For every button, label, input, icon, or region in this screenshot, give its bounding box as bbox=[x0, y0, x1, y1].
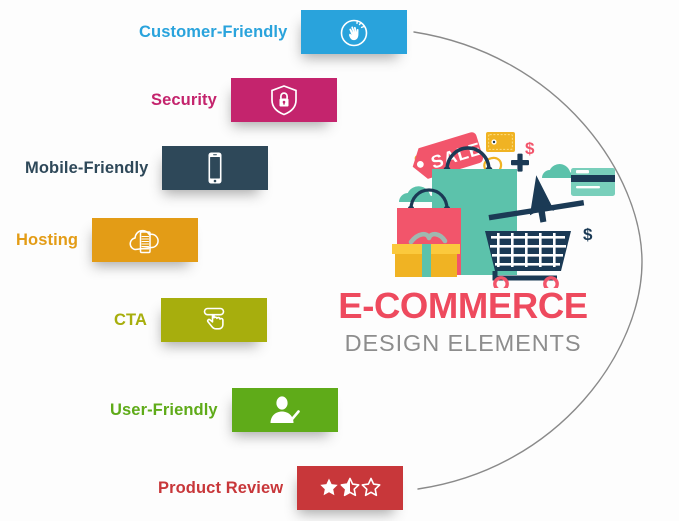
label-security: Security bbox=[151, 91, 217, 110]
label-hosting: Hosting bbox=[16, 231, 78, 250]
dollar-sign: $ bbox=[525, 139, 535, 158]
label-customer-friendly: Customer-Friendly bbox=[139, 23, 287, 42]
tile-customer-friendly[interactable] bbox=[301, 10, 407, 54]
row-security[interactable]: Security bbox=[151, 78, 337, 122]
credit-card-icon bbox=[571, 168, 615, 196]
shield-lock-icon bbox=[269, 83, 299, 117]
user-check-icon bbox=[267, 394, 303, 426]
tile-hosting[interactable] bbox=[92, 218, 198, 262]
label-product-review: Product Review bbox=[158, 479, 283, 498]
hand-wave-icon bbox=[337, 15, 371, 49]
infographic-canvas: Customer-Friendly Security bbox=[0, 0, 679, 521]
star-rating-icon bbox=[319, 477, 381, 499]
row-hosting[interactable]: Hosting bbox=[16, 218, 198, 262]
cloud-icon bbox=[542, 164, 575, 178]
tile-cta[interactable] bbox=[161, 298, 267, 342]
row-mobile-friendly[interactable]: Mobile-Friendly bbox=[25, 146, 268, 190]
wallet-icon bbox=[486, 132, 515, 152]
row-product-review[interactable]: Product Review bbox=[158, 466, 403, 510]
row-cta[interactable]: CTA bbox=[114, 298, 267, 342]
tile-security[interactable] bbox=[231, 78, 337, 122]
tile-user-friendly[interactable] bbox=[232, 388, 338, 432]
label-mobile-friendly: Mobile-Friendly bbox=[25, 159, 148, 178]
row-customer-friendly[interactable]: Customer-Friendly bbox=[139, 10, 407, 54]
row-user-friendly[interactable]: User-Friendly bbox=[110, 388, 338, 432]
dollar-sign: $ bbox=[583, 225, 593, 244]
cloud-server-icon bbox=[125, 224, 165, 256]
ecommerce-shopping-illustration: $ $ $ $ bbox=[385, 118, 630, 288]
tile-product-review[interactable] bbox=[297, 466, 403, 510]
smartphone-icon bbox=[204, 151, 226, 185]
click-hand-icon bbox=[197, 303, 231, 337]
page-subtitle: DESIGN ELEMENTS bbox=[313, 332, 613, 356]
label-user-friendly: User-Friendly bbox=[110, 401, 218, 420]
label-cta: CTA bbox=[114, 311, 147, 330]
page-title: E-COMMERCE bbox=[313, 288, 613, 325]
cursor-arrow-icon bbox=[525, 175, 561, 225]
title-block: E-COMMERCE DESIGN ELEMENTS bbox=[313, 288, 613, 355]
tile-mobile-friendly[interactable] bbox=[162, 146, 268, 190]
